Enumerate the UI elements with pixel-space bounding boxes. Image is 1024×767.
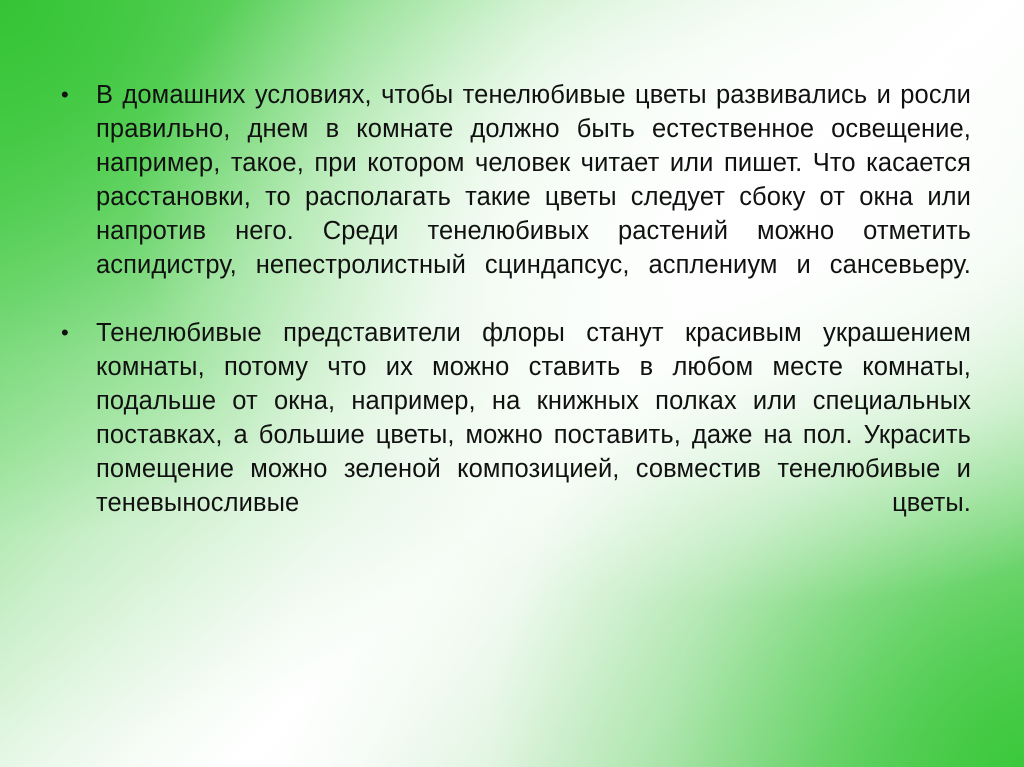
list-item: • В домашних условиях, чтобы тенелюбивые… — [55, 78, 971, 316]
presentation-slide: • В домашних условиях, чтобы тенелюбивые… — [0, 0, 1024, 767]
bullet-point-icon: • — [61, 78, 75, 112]
list-item: • Тенелюбивые представители флоры станут… — [55, 316, 971, 554]
bullet-point-icon: • — [61, 316, 75, 350]
bullet-paragraph-text: Тенелюбивые представители флоры станут к… — [96, 316, 971, 554]
bullet-paragraph-text: В домашних условиях, чтобы тенелюбивые ц… — [96, 78, 971, 316]
bullet-list: • В домашних условиях, чтобы тенелюбивые… — [55, 78, 971, 554]
slide-content-body: • В домашних условиях, чтобы тенелюбивые… — [55, 78, 971, 554]
